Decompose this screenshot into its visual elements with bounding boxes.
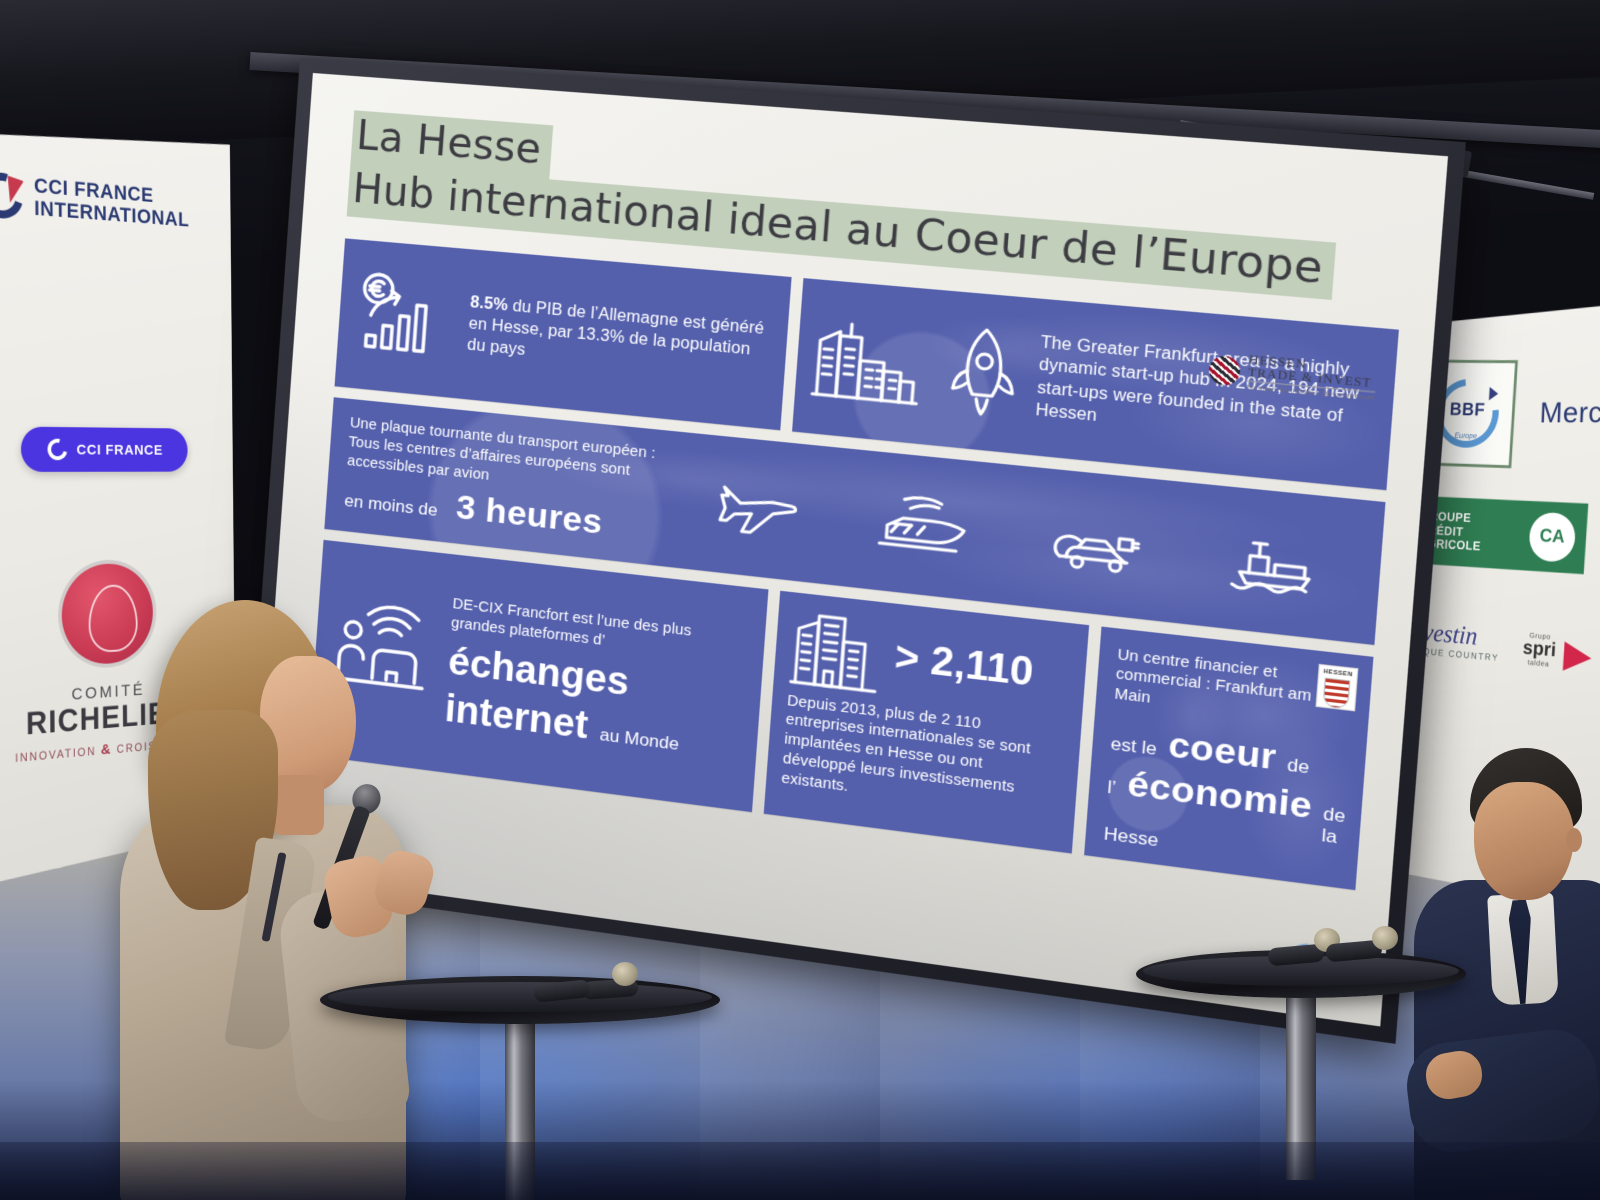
hessen-arms-label: HESSEN xyxy=(1323,668,1353,678)
euro-growth-chart-icon xyxy=(352,265,456,370)
airplane-icon xyxy=(714,474,802,543)
table-microphone-head-icon xyxy=(1372,926,1398,950)
panel-gdp-text: 8.5% du PIB de l’Allemagne est généré en… xyxy=(466,292,771,385)
panelist-ear xyxy=(1566,828,1582,852)
invest-in-basque-country-logo: Investin BASQUE COUNTRY Grupo spri talde… xyxy=(1403,616,1600,678)
hessen-coat-of-arms-icon: HESSEN xyxy=(1316,663,1359,711)
panel-finance-l2pre: est le xyxy=(1110,734,1158,761)
panel-decix-tail: au Monde xyxy=(599,725,680,755)
panel-companies-number: > 2,110 xyxy=(893,635,1035,696)
panel-finance-l3post: de la xyxy=(1321,804,1346,850)
slide-panel-grid: 8.5% du PIB de l’Allemagne est généré en… xyxy=(308,238,1399,890)
panel-finance-l3pre: l’ xyxy=(1107,777,1117,799)
electric-car-icon xyxy=(1050,508,1151,580)
stage-floor-edge xyxy=(0,1142,1600,1200)
rocket-icon xyxy=(942,320,1027,424)
speaker-neck xyxy=(270,775,324,835)
panel-gdp-highlight: 8.5% xyxy=(470,294,509,315)
globe-icon xyxy=(1208,355,1241,387)
panel-transport-small: en moins de xyxy=(344,491,439,521)
conference-stage-scene: CCI FRANCE INTERNATIONAL CCI FRANCE COMI… xyxy=(0,0,1600,1200)
panel-transport-big: 3 heures xyxy=(455,488,604,543)
invest-in: in xyxy=(1458,620,1478,650)
cci-circle-icon xyxy=(44,435,71,464)
ca-badge-icon: CA xyxy=(1528,512,1577,563)
panel-finance-l2post: de xyxy=(1286,755,1310,779)
panel-companies: > 2,110 Depuis 2013, plus de 2 110 entre… xyxy=(764,590,1089,853)
transport-icon-row xyxy=(681,469,1362,603)
table-rim xyxy=(328,982,712,1012)
cci-logo-icon xyxy=(0,171,23,220)
office-buildings-icon xyxy=(788,604,887,698)
table-microphone-head-icon xyxy=(612,962,638,986)
spri-arrow-icon xyxy=(1563,642,1593,674)
cci-pill-label: CCI FRANCE xyxy=(76,441,163,458)
train-icon xyxy=(874,490,975,561)
spri-logo: Grupo spri taldea xyxy=(1522,630,1557,669)
richelieu-sub-left: INNOVATION xyxy=(15,746,96,765)
ship-icon xyxy=(1227,525,1324,599)
panel-finance: HESSEN Un centre financier et commercial… xyxy=(1084,626,1373,890)
panel-gdp-body: du PIB de l’Allemagne est généré en Hess… xyxy=(467,297,765,359)
city-skyline-icon xyxy=(809,310,933,413)
panel-gdp: 8.5% du PIB de l’Allemagne est généré en… xyxy=(335,238,792,430)
cci-france-pill-logo: CCI FRANCE xyxy=(21,427,188,472)
richelieu-sub-amp: & xyxy=(101,741,112,758)
panelist-face xyxy=(1474,782,1574,900)
merci-text: Merci xyxy=(1539,396,1600,430)
